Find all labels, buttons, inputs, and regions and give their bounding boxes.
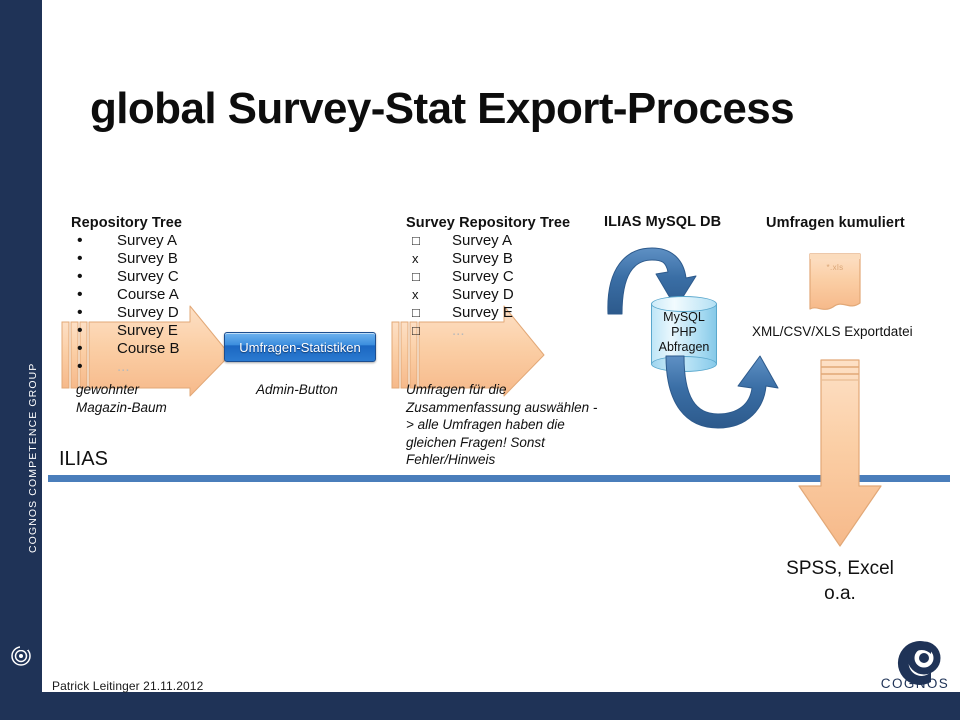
umfragen-statistiken-button[interactable]: Umfragen-Statistiken bbox=[224, 332, 376, 362]
list-item[interactable]: □ Survey C bbox=[406, 268, 514, 286]
list-item[interactable]: □ Survey A bbox=[406, 232, 514, 250]
list-item-label: Survey A bbox=[117, 232, 177, 250]
list-item-label: Survey C bbox=[117, 268, 179, 286]
list-item-label: Course B bbox=[117, 340, 180, 358]
list-item-label: Survey D bbox=[452, 286, 514, 304]
cylinder-label: MySQL PHP Abfragen bbox=[651, 310, 717, 355]
list-item[interactable]: • Survey C bbox=[71, 268, 180, 286]
list-item[interactable]: x Survey D bbox=[406, 286, 514, 304]
bullet-icon: • bbox=[71, 322, 117, 339]
flow-arrow-export-to-tools bbox=[795, 358, 885, 548]
list-item-label: Survey E bbox=[452, 304, 513, 322]
brand-bottom-strip bbox=[0, 692, 960, 720]
bullet-icon: • bbox=[71, 268, 117, 285]
checkbox-icon[interactable]: □ bbox=[406, 268, 452, 286]
brand-sidebar bbox=[0, 0, 42, 720]
list-item[interactable]: • Course A bbox=[71, 286, 180, 304]
caption-survey-selection: Umfragen für die Zusammenfassung auswähl… bbox=[406, 381, 598, 469]
slide-canvas: COGNOS COMPETENCE GROUP global Survey-St… bbox=[0, 0, 960, 720]
xls-document-label: *.xls bbox=[809, 263, 861, 272]
blue-arrow-out-of-db bbox=[664, 352, 794, 437]
ilias-boundary-label: ILIAS bbox=[59, 448, 108, 471]
bullet-icon: • bbox=[71, 304, 117, 321]
list-item[interactable]: x Survey B bbox=[406, 250, 514, 268]
bullet-icon: • bbox=[71, 358, 117, 375]
checkbox-checked-icon[interactable]: x bbox=[406, 286, 452, 304]
checkbox-icon[interactable]: □ bbox=[406, 304, 452, 322]
checkbox-icon[interactable]: □ bbox=[406, 322, 452, 340]
repository-tree-list: • Survey A • Survey B • Survey C • Cours… bbox=[71, 232, 180, 376]
heading-survey-repository-tree: Survey Repository Tree bbox=[406, 215, 570, 231]
list-item[interactable]: • Survey D bbox=[71, 304, 180, 322]
list-item-label: ... bbox=[452, 322, 465, 340]
bullet-icon: • bbox=[71, 286, 117, 303]
footer-author-date: Patrick Leitinger 21.11.2012 bbox=[52, 679, 203, 693]
cognos-spiral-icon bbox=[11, 646, 31, 666]
list-item[interactable]: • Survey A bbox=[71, 232, 180, 250]
export-file-caption: XML/CSV/XLS Exportdatei bbox=[752, 324, 932, 339]
list-item[interactable]: • Survey E bbox=[71, 322, 180, 340]
bullet-icon: • bbox=[71, 250, 117, 267]
bullet-icon: • bbox=[71, 232, 117, 249]
slide-title: global Survey-Stat Export-Process bbox=[90, 84, 920, 134]
list-item[interactable]: • Course B bbox=[71, 340, 180, 358]
list-item-label: Survey E bbox=[117, 322, 178, 340]
brand-sidebar-text: COGNOS COMPETENCE GROUP bbox=[27, 363, 39, 553]
list-item-label: ... bbox=[117, 358, 130, 376]
list-item-label: Survey B bbox=[452, 250, 513, 268]
caption-repository: gewohnter Magazin-Baum bbox=[76, 381, 246, 416]
heading-repository-tree: Repository Tree bbox=[71, 215, 182, 231]
list-item[interactable]: □ Survey E bbox=[406, 304, 514, 322]
final-output-label: SPSS, Excel o.a. bbox=[740, 556, 940, 606]
bullet-icon: • bbox=[71, 340, 117, 357]
list-item-label: Survey D bbox=[117, 304, 179, 322]
caption-admin-button: Admin-Button bbox=[256, 381, 426, 399]
cognos-wordmark: COGNOS bbox=[876, 676, 954, 691]
list-item-label: Course A bbox=[117, 286, 179, 304]
list-item[interactable]: • ... bbox=[71, 358, 180, 376]
survey-repository-tree-list: □ Survey A x Survey B □ Survey C x Surve… bbox=[406, 232, 514, 340]
list-item[interactable]: • Survey B bbox=[71, 250, 180, 268]
list-item-label: Survey B bbox=[117, 250, 178, 268]
checkbox-checked-icon[interactable]: x bbox=[406, 250, 452, 268]
list-item-label: Survey A bbox=[452, 232, 512, 250]
checkbox-icon[interactable]: □ bbox=[406, 232, 452, 250]
list-item[interactable]: □ ... bbox=[406, 322, 514, 340]
heading-umfragen-kumuliert: Umfragen kumuliert bbox=[766, 215, 905, 231]
list-item-label: Survey C bbox=[452, 268, 514, 286]
heading-ilias-mysql-db: ILIAS MySQL DB bbox=[604, 214, 721, 230]
